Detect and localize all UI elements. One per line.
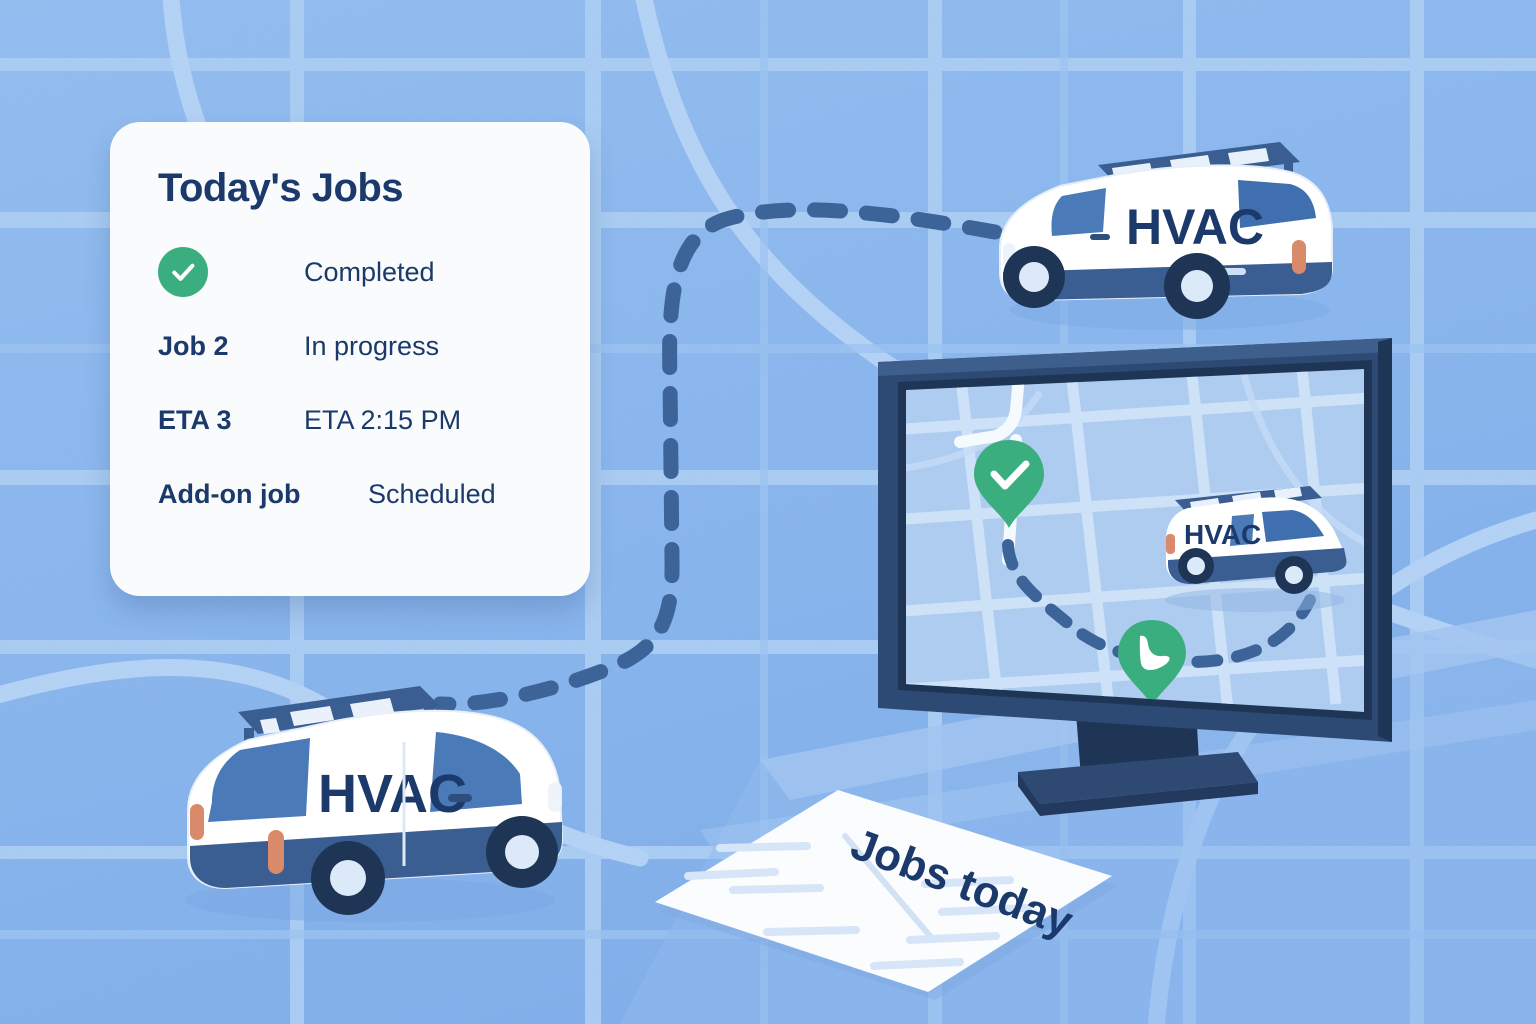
list-item[interactable]: Add-on job Scheduled [158, 466, 590, 522]
job-label: Job 2 [158, 331, 304, 362]
job-label: Add-on job [158, 479, 368, 510]
wheel-icon [486, 816, 558, 888]
van-badge-text: HVAC [318, 764, 467, 824]
tail-light-icon [190, 804, 204, 840]
illustration-scene: HVAC [0, 0, 1536, 1024]
wheel-icon [311, 841, 385, 915]
todays-jobs-card: Today's Jobs Completed Job 2 In progress… [110, 122, 590, 596]
job-status: ETA 2:15 PM [304, 405, 461, 436]
page-title: Today's Jobs [158, 166, 590, 210]
job-status: Completed [304, 257, 435, 288]
list-item[interactable]: Job 2 In progress [158, 318, 590, 374]
list-item[interactable]: Completed [158, 244, 590, 300]
job-label: ETA 3 [158, 405, 304, 436]
job-status: Scheduled [368, 479, 496, 510]
check-circle-icon [158, 247, 208, 297]
tail-light-icon [268, 830, 284, 874]
job-status: In progress [304, 331, 439, 362]
list-item[interactable]: ETA 3 ETA 2:15 PM [158, 392, 590, 448]
